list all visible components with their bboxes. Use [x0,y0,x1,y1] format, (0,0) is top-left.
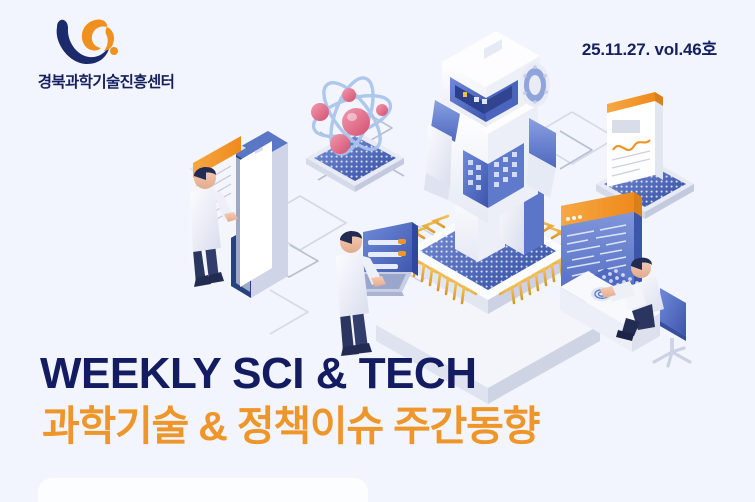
title-korean: 과학기술 & 정책이슈 주간동향 [42,406,539,447]
organization-logo[interactable]: 경북과학기술진흥센터 [16,14,196,100]
organization-name: 경북과학기술진흥센터 [16,70,196,92]
issue-date-label: 25.11.27. vol.46호 [582,35,717,60]
title-english: WEEKLY SCI & TECH [40,352,476,396]
gbsc-swoosh-logo-icon [52,14,138,68]
person-with-smartphone-form [189,131,288,298]
newsletter-cover: 경북과학기술진흥센터 25.11.27. vol.46호 WEEKLY SCI … [0,0,755,502]
